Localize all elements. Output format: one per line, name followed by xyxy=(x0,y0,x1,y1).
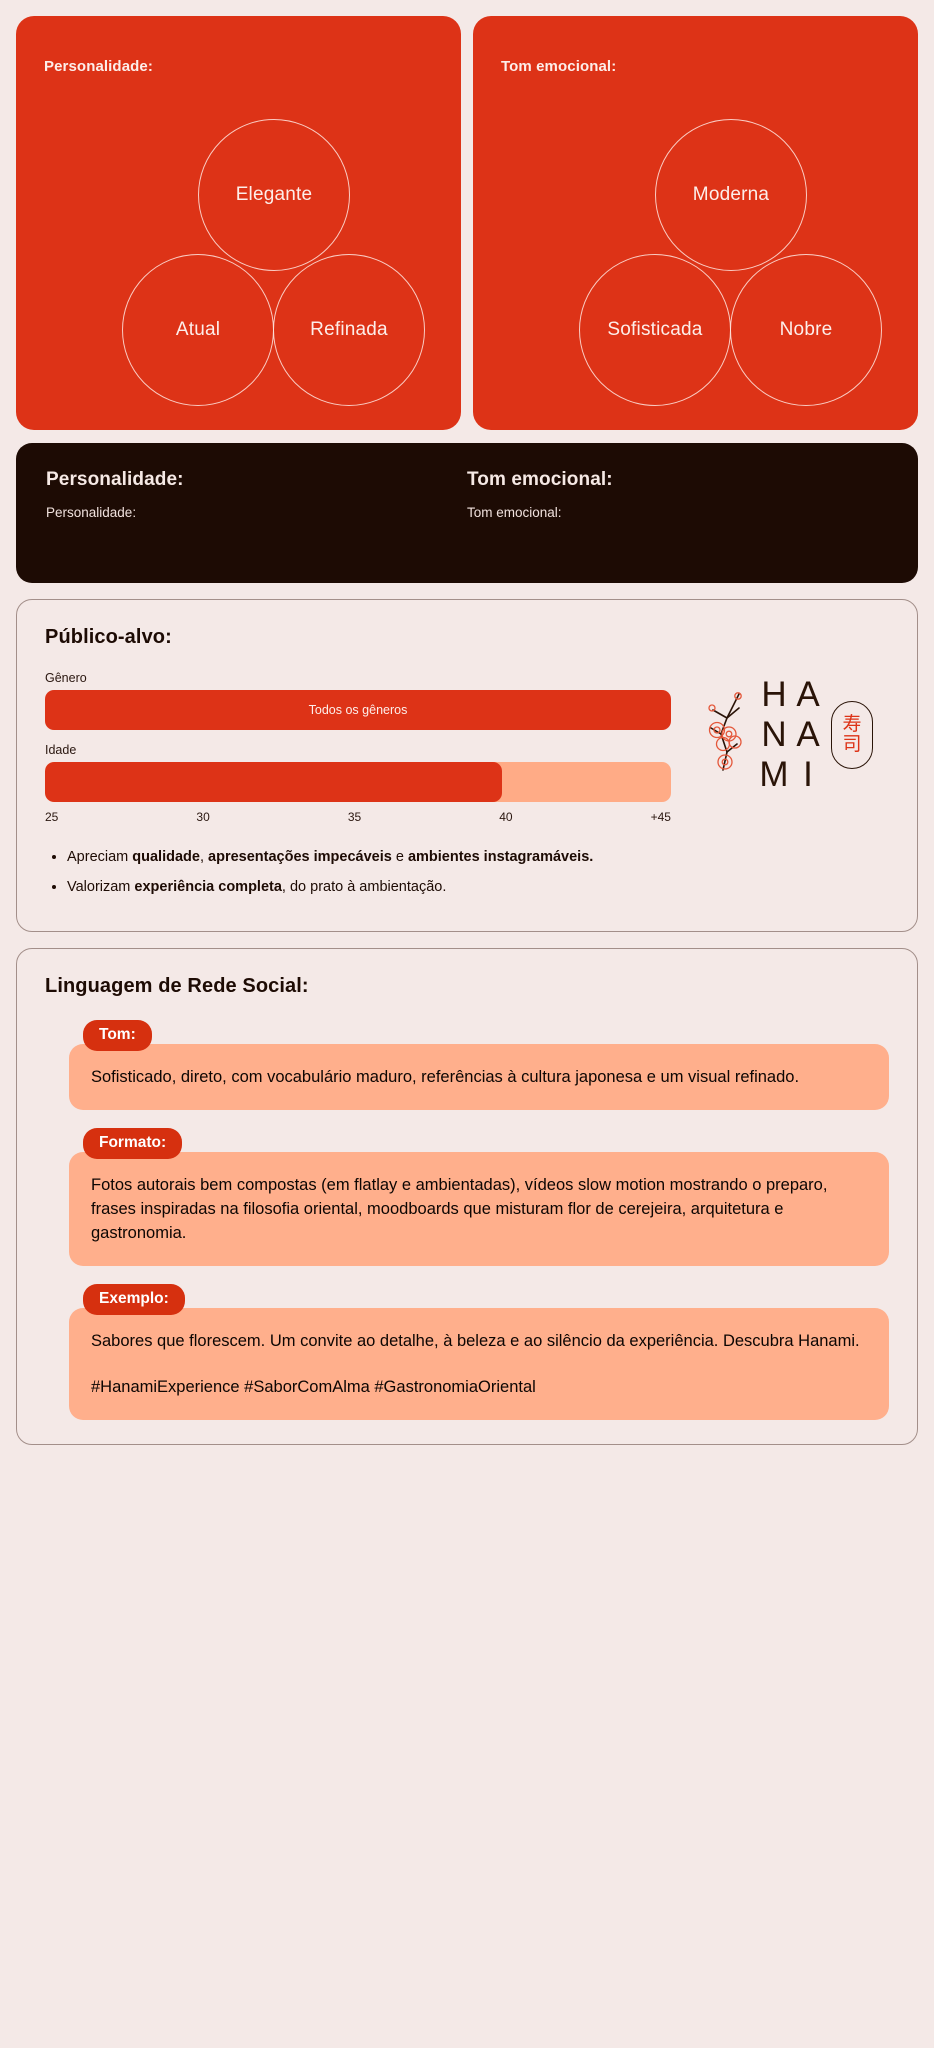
bullet-text: , do prato à ambientação. xyxy=(282,879,446,895)
venn-circle-left: Sofisticada xyxy=(579,254,731,406)
audience-bullet: Apreciam qualidade, apresentações impecá… xyxy=(67,848,889,868)
venn-circle-top: Elegante xyxy=(198,119,350,271)
venn-circle-left-label: Atual xyxy=(176,319,220,341)
venn-circle-left: Atual xyxy=(122,254,274,406)
social-block: Tom:Sofisticado, direto, com vocabulário… xyxy=(45,1020,889,1110)
audience-bullet-list: Apreciam qualidade, apresentações impecá… xyxy=(45,848,889,897)
brand-logo-area: H A N A M I 寿 司 xyxy=(689,671,889,824)
social-block-chip[interactable]: Tom: xyxy=(83,1020,152,1051)
age-slider-track[interactable] xyxy=(45,762,671,802)
logo-letter: I xyxy=(803,757,813,792)
dark-band-personality-value: Personalidade: xyxy=(46,505,467,520)
target-audience-panel: Público-alvo: Gênero Todos os gêneros Id… xyxy=(16,599,918,932)
bullet-text: Valorizam xyxy=(67,879,134,895)
gender-label: Gênero xyxy=(45,671,671,685)
age-tick: +45 xyxy=(651,810,671,824)
age-tick: 35 xyxy=(348,810,499,824)
social-block-chip[interactable]: Formato: xyxy=(83,1128,182,1159)
age-tick: 40 xyxy=(499,810,650,824)
dark-band-tone-value: Tom emocional: xyxy=(467,505,888,520)
venn-circle-top: Moderna xyxy=(655,119,807,271)
social-block-paragraph: #HanamiExperience #SaborComAlma #Gastron… xyxy=(91,1376,867,1400)
stamp-char: 寿 xyxy=(842,715,861,735)
hanami-wordmark: H A N A M I xyxy=(757,675,825,795)
venn-circle-right-label: Nobre xyxy=(780,319,833,341)
logo-letter: H xyxy=(761,677,786,712)
dark-summary-band: Personalidade: Personalidade: Tom emocio… xyxy=(16,443,918,583)
dark-band-personality-heading: Personalidade: xyxy=(46,469,467,491)
personality-card: Personalidade: Elegante Atual Refinada xyxy=(16,16,461,430)
logo-letter: M xyxy=(759,757,788,792)
audience-bullet: Valorizam experiência completa, do prato… xyxy=(67,878,889,898)
venn-circle-right: Nobre xyxy=(730,254,882,406)
bullet-emphasis: ambientes instagramáveis. xyxy=(408,849,593,865)
age-label: Idade xyxy=(45,743,671,757)
dark-band-tone-heading: Tom emocional: xyxy=(467,469,888,491)
target-audience-title: Público-alvo: xyxy=(45,626,889,649)
age-tick: 30 xyxy=(196,810,347,824)
social-language-title: Linguagem de Rede Social: xyxy=(45,975,889,998)
social-block-paragraph: Sabores que florescem. Um convite ao det… xyxy=(91,1330,867,1354)
sushi-stamp-icon: 寿 司 xyxy=(831,701,873,769)
logo-letter: N xyxy=(761,717,786,752)
target-audience-body: Gênero Todos os gêneros Idade 25 30 35 4… xyxy=(45,671,889,824)
logo-letter: A xyxy=(796,717,819,752)
venn-circle-left-label: Sofisticada xyxy=(607,319,702,341)
venn-circle-right: Refinada xyxy=(273,254,425,406)
gender-bar-value: Todos os gêneros xyxy=(309,703,408,717)
audience-controls: Gênero Todos os gêneros Idade 25 30 35 4… xyxy=(45,671,671,824)
social-block-body: Sabores que florescem. Um convite ao det… xyxy=(69,1308,889,1420)
dark-band-personality-column: Personalidade: Personalidade: xyxy=(46,469,467,583)
social-block-body: Fotos autorais bem compostas (em flatlay… xyxy=(69,1152,889,1266)
dark-band-tone-column: Tom emocional: Tom emocional: xyxy=(467,469,888,583)
bullet-emphasis: apresentações impecáveis xyxy=(208,849,392,865)
hanami-logo: H A N A M I 寿 司 xyxy=(705,675,873,795)
venn-circle-top-label: Moderna xyxy=(693,184,769,206)
emotional-tone-card: Tom emocional: Moderna Sofisticada Nobre xyxy=(473,16,918,430)
age-tick: 25 xyxy=(45,810,196,824)
venn-circle-top-label: Elegante xyxy=(236,184,313,206)
social-block-paragraph: Sofisticado, direto, com vocabulário mad… xyxy=(91,1066,867,1090)
emotional-tone-venn-diagram: Moderna Sofisticada Nobre xyxy=(473,16,918,430)
social-language-panel: Linguagem de Rede Social: Tom:Sofisticad… xyxy=(16,948,918,1445)
social-block-body: Sofisticado, direto, com vocabulário mad… xyxy=(69,1044,889,1110)
age-slider-fill xyxy=(45,762,502,802)
personality-tone-row: Personalidade: Elegante Atual Refinada T… xyxy=(16,16,918,430)
venn-circle-right-label: Refinada xyxy=(310,319,388,341)
bullet-text: Apreciam xyxy=(67,849,132,865)
bullet-text: , xyxy=(200,849,208,865)
logo-letter: A xyxy=(796,677,819,712)
personality-venn-diagram: Elegante Atual Refinada xyxy=(16,16,461,430)
cherry-blossom-icon xyxy=(705,690,751,779)
bullet-emphasis: qualidade xyxy=(132,849,200,865)
social-block: Exemplo:Sabores que florescem. Um convit… xyxy=(45,1284,889,1420)
gender-bar[interactable]: Todos os gêneros xyxy=(45,690,671,730)
bullet-emphasis: experiência completa xyxy=(134,879,282,895)
age-tick-labels: 25 30 35 40 +45 xyxy=(45,810,671,824)
stamp-char: 司 xyxy=(842,735,861,755)
bullet-text: e xyxy=(392,849,408,865)
social-blocks-container: Tom:Sofisticado, direto, com vocabulário… xyxy=(45,1020,889,1420)
social-block-chip[interactable]: Exemplo: xyxy=(83,1284,185,1315)
social-block-paragraph: Fotos autorais bem compostas (em flatlay… xyxy=(91,1174,867,1246)
social-block: Formato:Fotos autorais bem compostas (em… xyxy=(45,1128,889,1266)
